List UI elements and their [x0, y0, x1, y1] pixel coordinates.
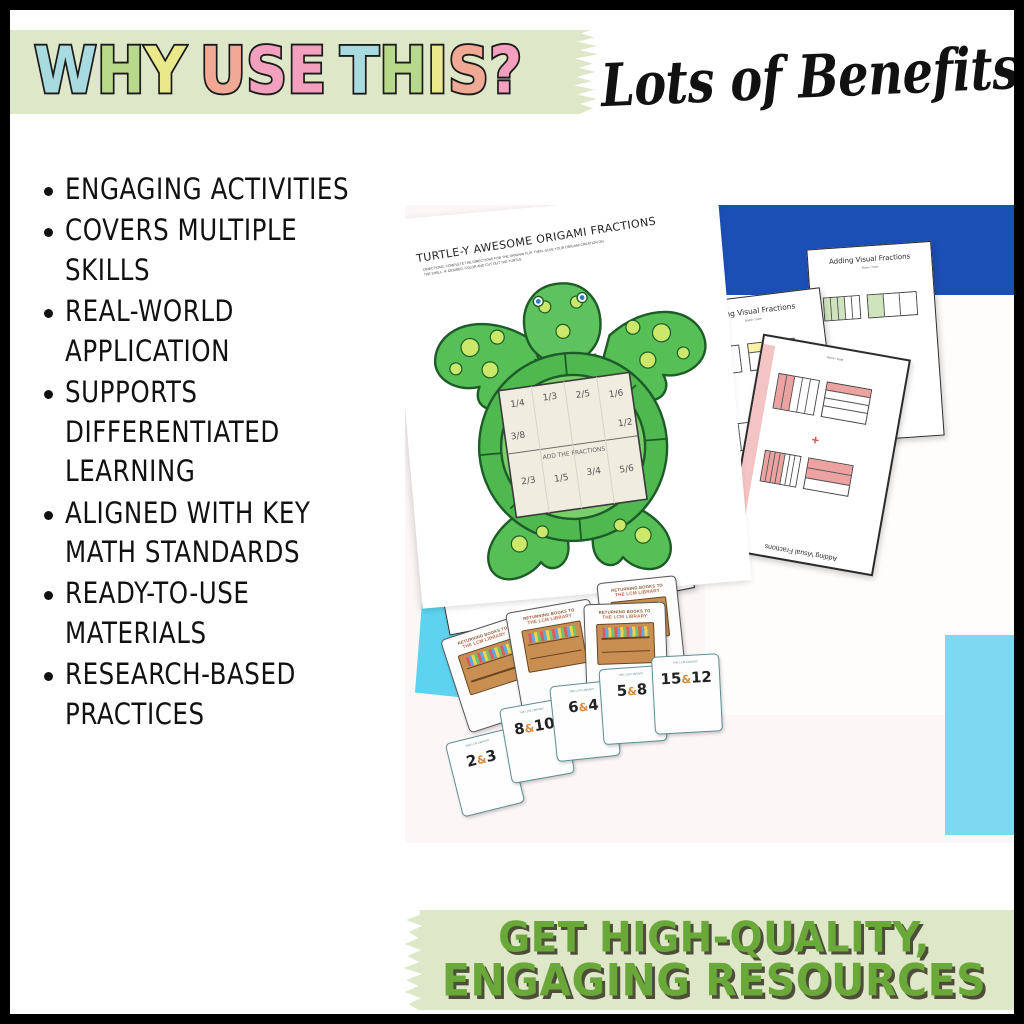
headline-letter-7	[326, 40, 340, 104]
footer-line-2: ENGAGING RESOURCES	[442, 959, 986, 1003]
bullet-dot-icon	[44, 228, 53, 237]
turtle-illustration: 1/41/3 2/51/6 3/81/2 2/31/5 3/45/6 ADD T…	[408, 259, 734, 594]
svg-text:3/8: 3/8	[510, 430, 526, 442]
number-card-header: THE LCM LIBRARY	[652, 658, 718, 665]
bullet-dot-icon	[44, 591, 53, 600]
headline-letters: WHY USE THIS?	[34, 44, 522, 101]
footer-banner: GET HIGH-QUALITY, ENGAGING RESOURCES	[400, 910, 1014, 1010]
benefit-item-label: ALIGNED WITH KEY MATH STANDARDS	[65, 494, 381, 573]
headline-letter-1: H	[97, 40, 145, 104]
bullet-dot-icon	[44, 309, 53, 318]
headline-letter-8: T	[340, 40, 379, 104]
fraction-bar-green-a	[823, 295, 862, 322]
benefit-item: ALIGNED WITH KEY MATH STANDARDS	[36, 494, 401, 573]
svg-text:1/4: 1/4	[510, 398, 526, 410]
benefits-list: ENGAGING ACTIVITIESCOVERS MULTIPLE SKILL…	[36, 170, 401, 736]
benefit-item-label: READY-TO-USE MATERIALS	[65, 574, 381, 653]
backdrop-cyan-band-lower	[945, 635, 1014, 835]
script-subtitle-text: Lots of Benefits	[600, 32, 1014, 120]
svg-text:1/5: 1/5	[554, 473, 570, 485]
footer-headline: GET HIGH-QUALITY, ENGAGING RESOURCES	[428, 917, 986, 1003]
plus-icon-red: +	[810, 432, 820, 448]
product-photo-collage: Adding Visual Fractions Name / Date	[405, 205, 1014, 843]
headline-letter-9: H	[379, 40, 427, 104]
fraction-bar-red-c	[760, 450, 802, 488]
svg-text:1/2: 1/2	[617, 417, 633, 429]
footer-line-1: GET HIGH-QUALITY,	[442, 917, 986, 959]
svg-text:2/5: 2/5	[575, 389, 591, 401]
benefit-item: RESEARCH-BASED PRACTICES	[36, 655, 401, 734]
fraction-bar-red-d	[803, 457, 854, 497]
benefit-item-label: SUPPORTS DIFFERENTIATED LEARNING	[65, 373, 381, 491]
poster-canvas: WHY USE THIS? Lots of Benefits ENGAGING …	[10, 10, 1014, 1014]
benefit-item-label: ENGAGING ACTIVITIES	[65, 170, 349, 209]
benefit-item: READY-TO-USE MATERIALS	[36, 574, 401, 653]
headline-letter-4: U	[200, 40, 246, 104]
benefit-item-label: RESEARCH-BASED PRACTICES	[65, 655, 381, 734]
headline-letter-2: Y	[145, 40, 186, 104]
svg-text:5/6: 5/6	[619, 464, 635, 476]
bullet-dot-icon	[44, 187, 53, 196]
turtle-icon: 1/41/3 2/51/6 3/81/2 2/31/5 3/45/6 ADD T…	[408, 259, 734, 594]
script-subtitle: Lots of Benefits	[620, 36, 1000, 116]
number-card: THE LCM LIBRARY 15&12	[651, 653, 723, 734]
svg-text:1/3: 1/3	[542, 392, 558, 404]
fraction-bar-green-b	[867, 291, 919, 318]
svg-text:1/6: 1/6	[608, 388, 624, 400]
headline-letter-11: S	[448, 40, 489, 104]
fraction-bar-red-b	[821, 381, 873, 424]
headline-letter-3	[186, 40, 200, 104]
benefit-item: COVERS MULTIPLE SKILLS	[36, 211, 401, 290]
poster-frame: WHY USE THIS? Lots of Benefits ENGAGING …	[0, 0, 1024, 1024]
bullet-dot-icon	[44, 390, 53, 399]
bookshelf-icon	[521, 620, 588, 673]
number-card-value: 15&12	[653, 667, 720, 688]
benefit-item-label: REAL-WORLD APPLICATION	[65, 292, 381, 371]
bullet-dot-icon	[44, 672, 53, 681]
svg-text:3/4: 3/4	[586, 466, 602, 478]
headline-letter-12: ?	[489, 40, 522, 104]
benefit-item: ENGAGING ACTIVITIES	[36, 170, 401, 209]
bullet-dot-icon	[44, 511, 53, 520]
svg-text:2/3: 2/3	[521, 475, 537, 487]
headline-letter-10: I	[427, 40, 448, 104]
headline-letter-5: S	[246, 40, 287, 104]
benefit-item-label: COVERS MULTIPLE SKILLS	[65, 211, 381, 290]
header-banner: WHY USE THIS?	[10, 30, 610, 114]
fraction-bar-red-a	[772, 373, 820, 416]
bookshelf-icon	[596, 622, 655, 665]
headline-letter-6: E	[287, 40, 326, 104]
benefit-item: REAL-WORLD APPLICATION	[36, 292, 401, 371]
benefit-item: SUPPORTS DIFFERENTIATED LEARNING	[36, 373, 401, 491]
turtle-origami-craft-sheet: TURTLE-Y AWESOME ORIGAMI FRACTIONS DIREC…	[405, 205, 751, 609]
headline-letter-0: W	[34, 40, 97, 104]
